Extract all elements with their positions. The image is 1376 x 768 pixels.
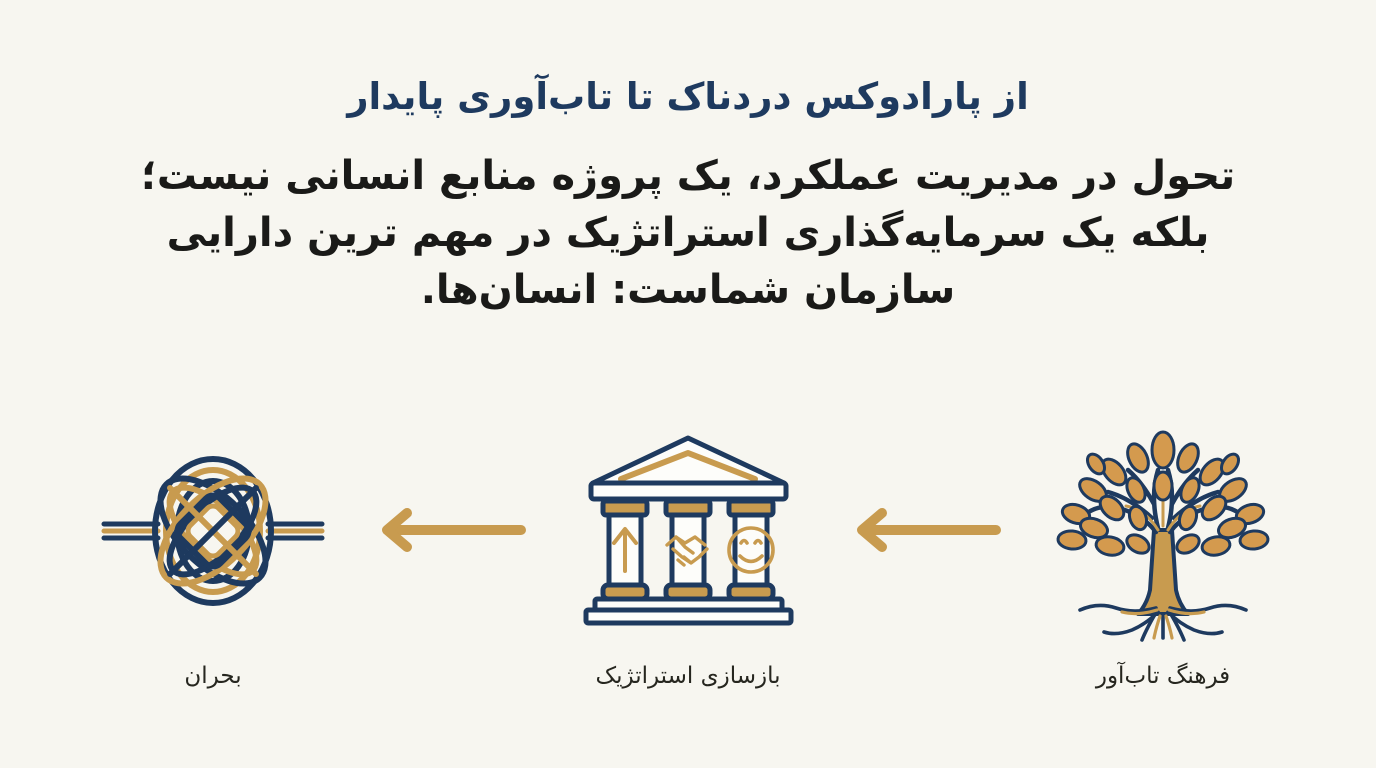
caption-crisis: بحران [184, 663, 241, 689]
subtitle-line-2: بلکه یک سرمایه‌گذاری استراتژیک در مهم تر… [141, 205, 1235, 262]
tree-of-life-icon [1046, 418, 1281, 643]
connector-arrow-2-box [838, 415, 1013, 645]
celtic-knot-icon [98, 438, 328, 623]
subtitle-line-3: سازمان شماست: انسان‌ها. [141, 262, 1235, 319]
classical-temple-icon [581, 433, 796, 628]
subtitle-block: تحول در مدیریت عملکرد، یک پروژه منابع ان… [141, 148, 1235, 318]
stage-strategic-rebuild: بازسازی استراتژیک [538, 415, 838, 689]
culture-icon-box [1046, 415, 1281, 645]
stage-crisis: بحران [63, 415, 363, 689]
caption-resilient-culture: فرهنگ تاب‌آور [1096, 663, 1230, 689]
connector-arrow-1-box [363, 415, 538, 645]
subtitle-line-1: تحول در مدیریت عملکرد، یک پروژه منابع ان… [141, 148, 1235, 205]
arrow-right-icon [846, 507, 1006, 553]
slide-root: از پارادوکس دردناک تا تاب‌آوری پایدار تح… [0, 0, 1376, 768]
crisis-icon-box [98, 415, 328, 645]
arrow-right-icon [371, 507, 531, 553]
caption-strategic-rebuild: بازسازی استراتژیک [596, 663, 781, 689]
process-flow: بحران [0, 415, 1376, 725]
page-title: از پارادوکس دردناک تا تاب‌آوری پایدار [347, 74, 1029, 120]
stage-resilient-culture: فرهنگ تاب‌آور [1013, 415, 1313, 689]
rebuild-icon-box [581, 415, 796, 645]
